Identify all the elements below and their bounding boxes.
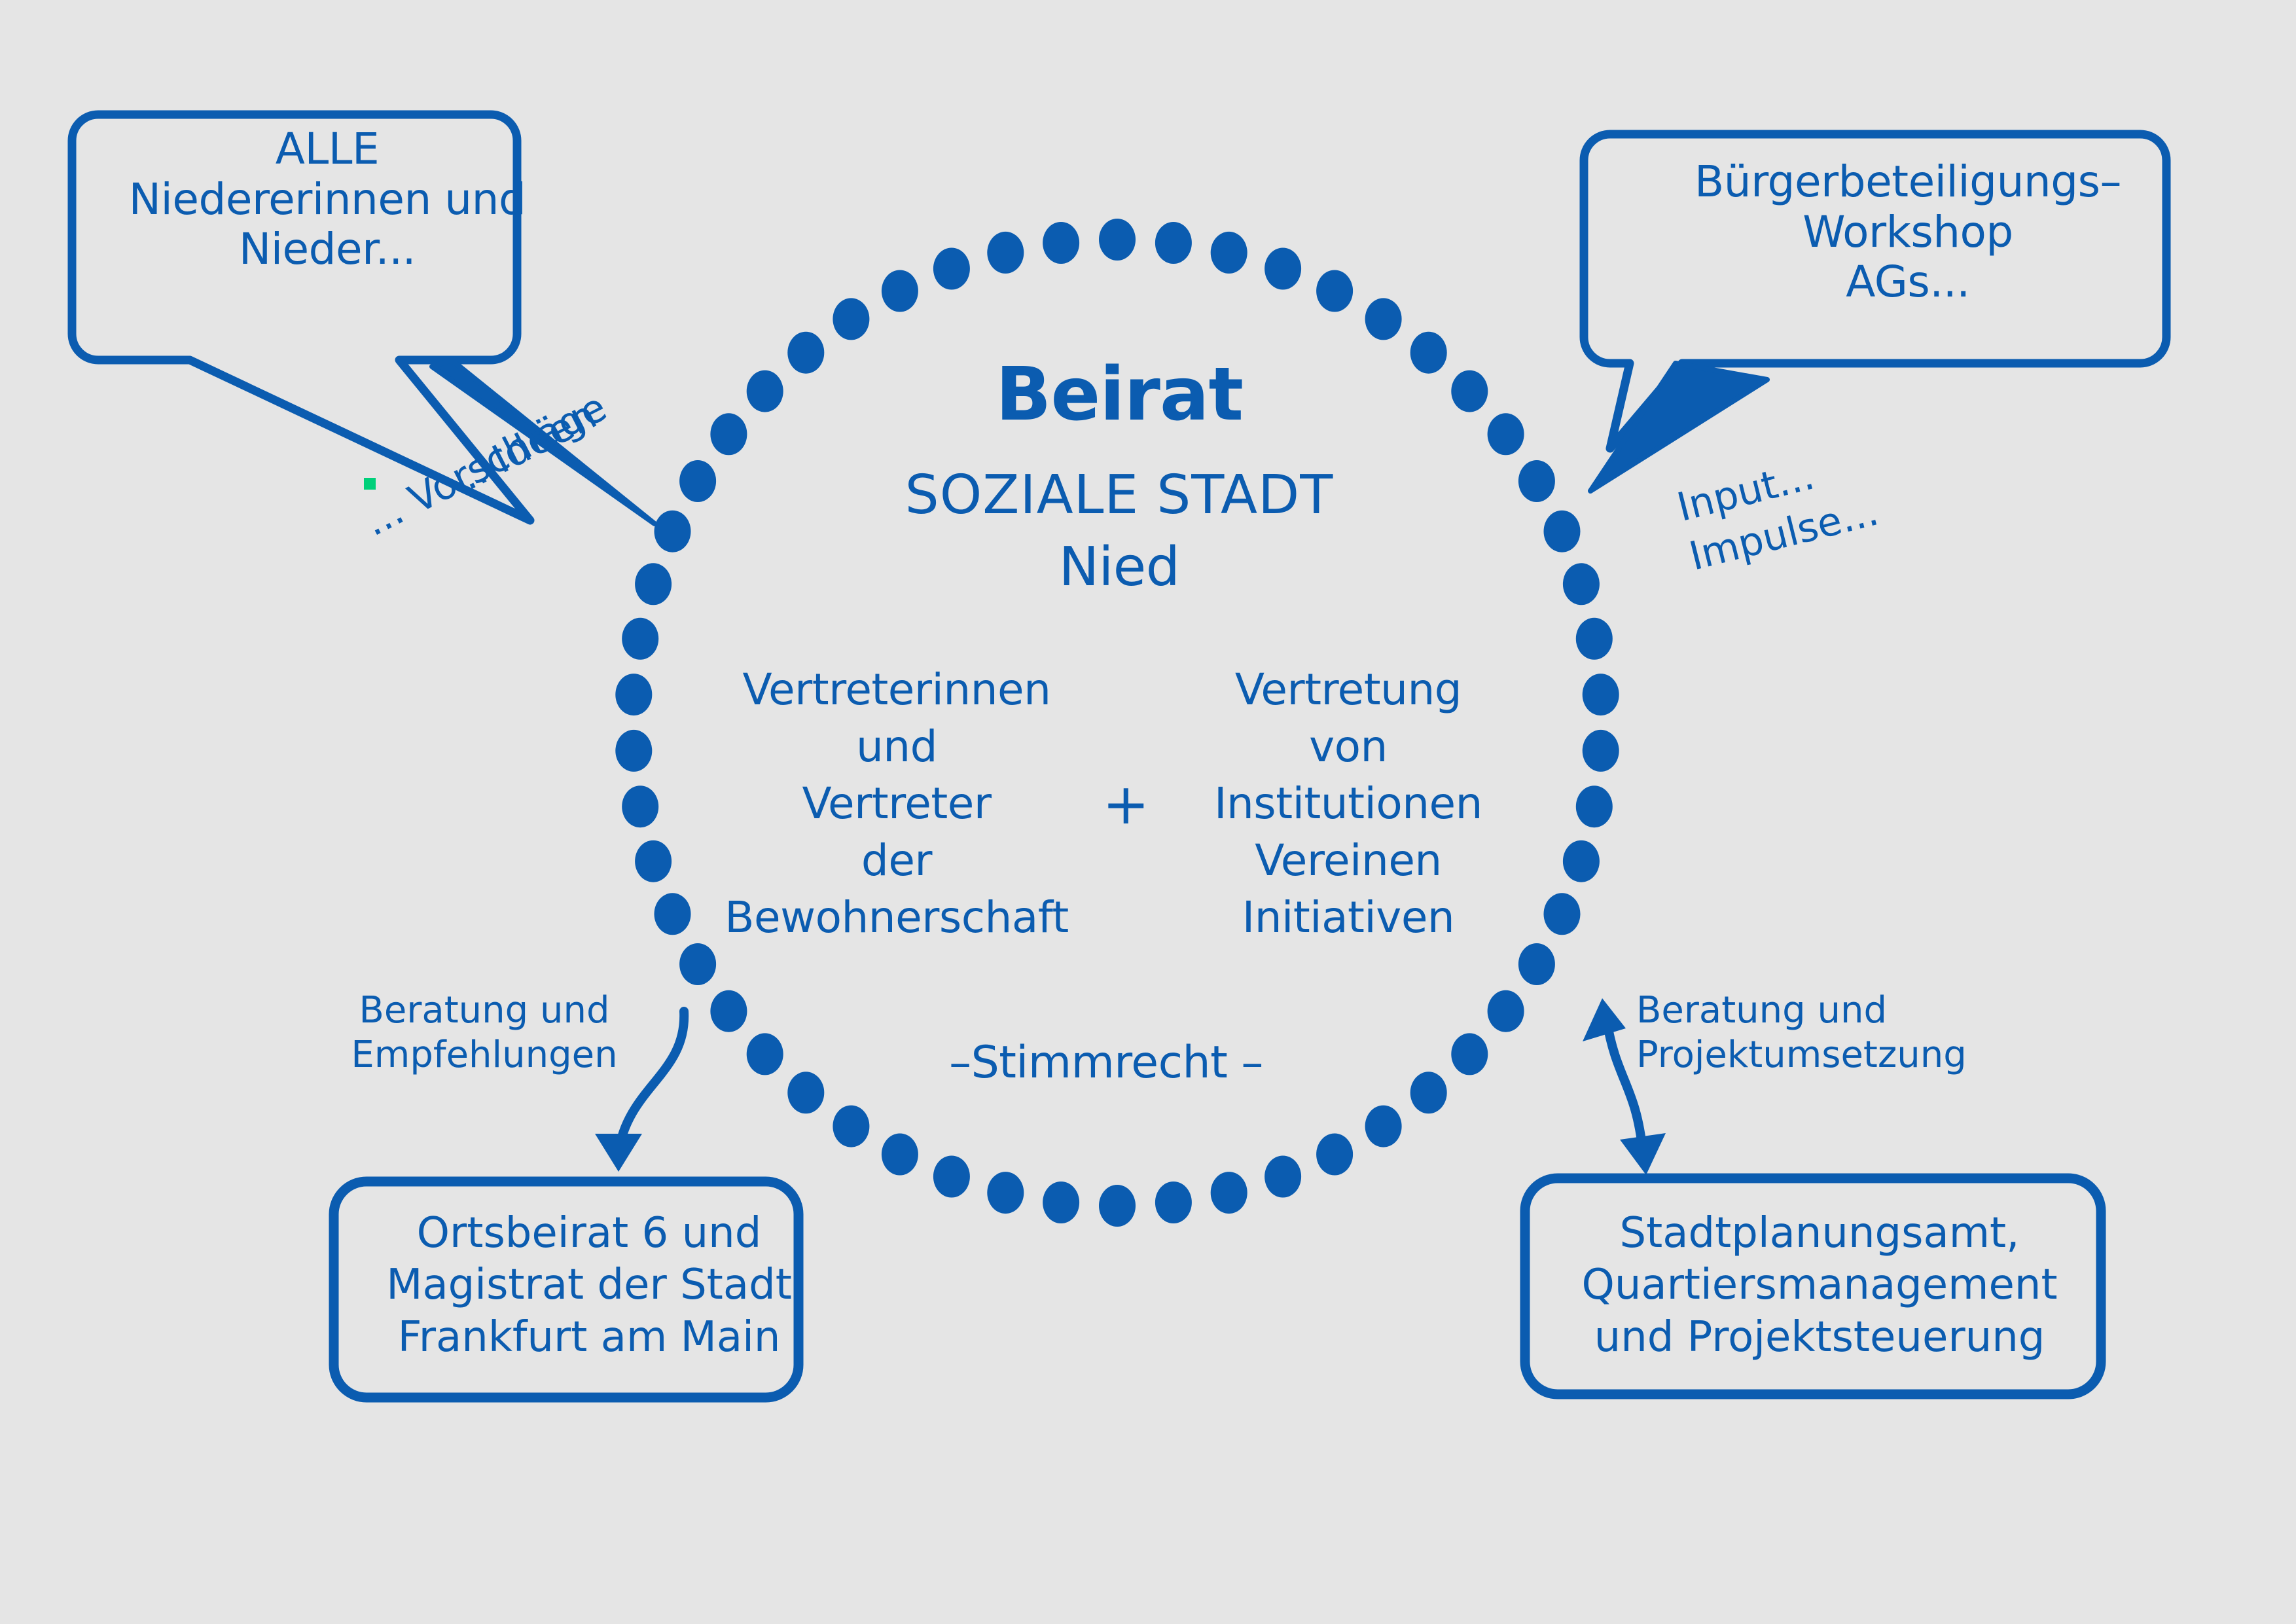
circle-dot — [710, 413, 747, 455]
circle-dot — [1518, 943, 1555, 985]
circle-dot — [710, 990, 747, 1032]
circle-dot — [615, 730, 652, 772]
circle-dot — [1544, 893, 1581, 935]
circle-dot — [1563, 840, 1600, 882]
circle-dot — [679, 460, 716, 502]
diagram-canvas: ALLE Niedererinnen und Nieder... Bürgerb… — [0, 0, 2296, 1624]
circle-dot — [1043, 1182, 1079, 1223]
circle-dot — [1451, 370, 1488, 412]
circle-dot — [1576, 618, 1613, 660]
circle-dot — [1211, 232, 1247, 274]
center-subtitle-line2: Nied — [812, 537, 1427, 598]
circle-dot — [747, 1033, 783, 1075]
bubble-top-right-text: Bürgerbeteiligungs– Workshop AGs... — [1666, 157, 2150, 308]
page-title: Beirat — [825, 353, 1414, 437]
circle-dot — [1043, 222, 1079, 264]
circle-dot — [635, 563, 672, 605]
circle-dot — [1265, 248, 1301, 290]
circle-dot — [1488, 413, 1524, 455]
circle-dot — [1365, 1106, 1402, 1147]
circle-dot — [622, 618, 658, 660]
circle-dot — [1451, 1033, 1488, 1075]
circle-dot — [1155, 1182, 1192, 1223]
circle-dot — [882, 1134, 918, 1176]
circle-dot — [833, 1106, 869, 1147]
circle-dot — [1410, 1072, 1447, 1113]
circle-dot — [933, 248, 970, 290]
circle-dot — [933, 1156, 970, 1198]
circle-dot — [655, 511, 691, 552]
box-ortsbeirat-text: Ortsbeirat 6 und Magistrat der Stadt Fra… — [353, 1208, 825, 1363]
circle-dot — [655, 893, 691, 935]
circle-dot — [679, 943, 716, 985]
bubble-top-left-text: ALLE Niedererinnen und Nieder... — [92, 124, 563, 275]
label-beratung-empfehlungen: Beratung und Empfehlungen — [347, 988, 622, 1078]
circle-dot — [1365, 298, 1402, 340]
circle-dot — [1265, 1156, 1301, 1198]
center-subtitle-line1: SOZIALE STADT — [812, 465, 1427, 526]
circle-dot — [787, 1072, 824, 1113]
circle-dot — [987, 232, 1024, 274]
circle-dot — [1099, 1185, 1136, 1227]
circle-dot — [1563, 563, 1600, 605]
label-beratung-projektumsetzung: Beratung und Projektumsetzung — [1636, 988, 1964, 1078]
circle-dot — [1583, 730, 1619, 772]
stimmrecht-note: –Stimmrecht – — [929, 1038, 1283, 1089]
center-column-right: Vertretung von Institutionen Vereinen In… — [1172, 661, 1525, 947]
circle-dot — [615, 674, 652, 715]
circle-dot — [1544, 511, 1581, 552]
circle-dot — [1410, 332, 1447, 374]
circle-dot — [882, 270, 918, 312]
circle-dot — [1316, 1134, 1353, 1176]
center-column-left: Vertreterinnen und Vertreter der Bewohne… — [694, 661, 1100, 947]
circle-dot — [1488, 990, 1524, 1032]
circle-dot — [622, 785, 658, 827]
circle-dot — [1211, 1172, 1247, 1214]
circle-dot — [635, 840, 672, 882]
circle-dot — [1583, 674, 1619, 715]
circle-dot — [1155, 222, 1192, 264]
circle-dot — [987, 1172, 1024, 1214]
circle-dot — [1518, 460, 1555, 502]
box-stadtplanungsamt-text: Stadtplanungsamt, Quartiersmanagement un… — [1538, 1208, 2101, 1363]
stray-green-dot — [364, 478, 376, 490]
circle-dot — [747, 370, 783, 412]
circle-dot — [1099, 219, 1136, 261]
circle-dot — [1316, 270, 1353, 312]
circle-dot — [787, 332, 824, 374]
circle-dot — [833, 298, 869, 340]
circle-dot — [1576, 785, 1613, 827]
plus-symbol: + — [1086, 772, 1165, 837]
